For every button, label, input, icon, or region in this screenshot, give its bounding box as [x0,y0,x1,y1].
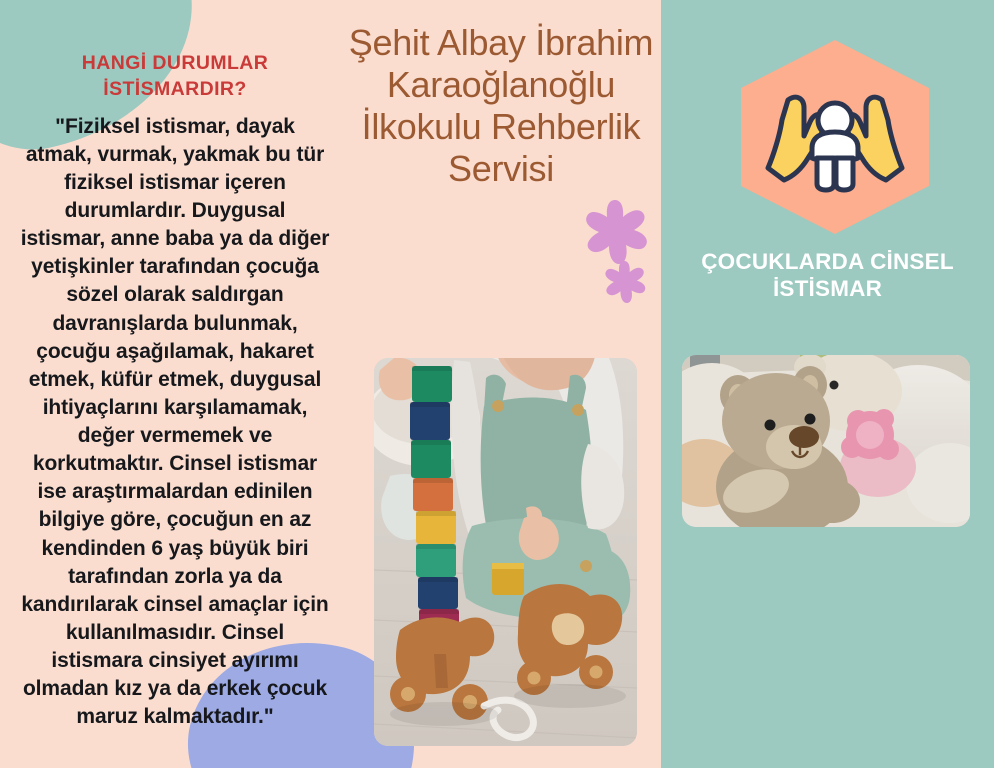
child-playing-photo [374,358,637,746]
protective-hands-around-child-icon [724,36,946,238]
page-title: Şehit Albay İbrahim Karaoğlanoğlu İlkoku… [341,22,661,190]
right-panel-heading: ÇOCUKLARDA CİNSEL İSTİSMAR [661,248,994,303]
body-paragraph: "Fiziksel istismar, dayak atmak, vurmak,… [20,113,330,732]
left-text-block: HANGİ DURUMLAR İSTİSMARDIR? "Fiziksel is… [20,50,330,731]
flower-icon [602,258,648,306]
section-kicker: HANGİ DURUMLAR İSTİSMARDIR? [20,50,330,103]
poster-canvas: HANGİ DURUMLAR İSTİSMARDIR? "Fiziksel is… [0,0,994,768]
child-figure-icon [812,103,858,190]
teddy-bears-photo [682,355,970,527]
